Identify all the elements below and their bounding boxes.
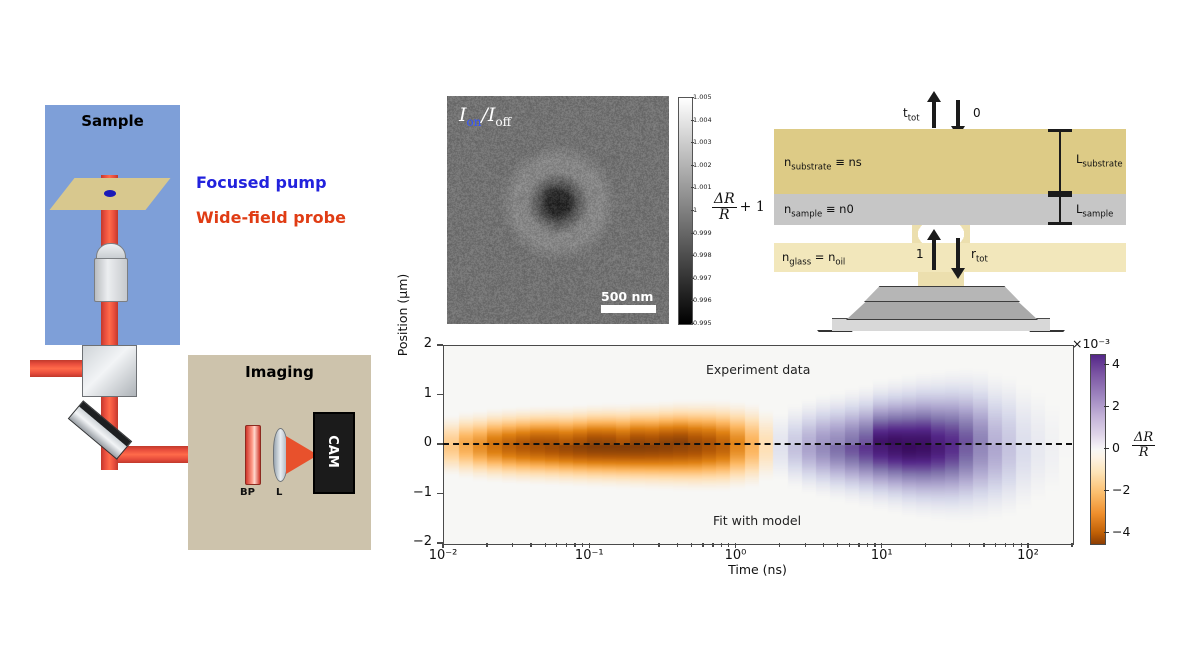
micrograph-colorbar-tick-label: 0.998 xyxy=(693,251,712,259)
optical-setup-diagram: Sample Focused pump Wide-field probe Ima… xyxy=(0,0,400,667)
heatmap-x-minor-tickmark xyxy=(633,543,634,547)
heatmap-x-axis-label: Time (ns) xyxy=(443,562,1072,577)
heatmap-x-tick-label: 10⁻² xyxy=(421,548,465,563)
substrate-layer-label: nsubstrate ≡ ns xyxy=(784,155,862,172)
n-sample-subscript: sample xyxy=(791,209,822,219)
sample-thickness-label: Lsample xyxy=(1076,202,1113,219)
sample-layer-label: nsample ≡ n0 xyxy=(784,202,854,219)
heatmap-x-minor-tickmark xyxy=(486,543,487,547)
substrate-thickness-label: Lsubstrate xyxy=(1076,152,1123,169)
heatmap-x-minor-tickmark xyxy=(805,543,806,547)
colorbar-label-numerator: ΔR xyxy=(712,192,737,208)
heatmap-x-minor-tickmark xyxy=(779,543,780,547)
heatmap-x-minor-tickmark xyxy=(874,543,875,547)
zero-position-dashed-line xyxy=(443,443,1072,445)
micrograph-ratio-label: Ion/Ioff xyxy=(459,104,511,129)
r-tot-arrow-label: rtot xyxy=(971,247,988,264)
heatmap-colorbar-tickmark xyxy=(1104,448,1109,449)
heatmap-y-tickmark xyxy=(437,394,443,395)
heatmap-x-minor-tickmark xyxy=(867,543,868,547)
heatmap-x-minor-tickmark xyxy=(658,543,659,547)
heatmap-x-minor-tickmark xyxy=(712,543,713,547)
L-substrate-subscript: substrate xyxy=(1082,159,1122,169)
micrograph-colorbar-label: ΔR R + 1 xyxy=(712,192,765,222)
heatmap-x-minor-tickmark xyxy=(582,543,583,547)
heatmap-x-minor-tickmark xyxy=(1021,543,1022,547)
heatmap-colorbar-tick-label: 0 xyxy=(1112,440,1120,455)
micrograph-colorbar-tick-label: 1 xyxy=(693,206,697,214)
heatmap-x-minor-tickmark xyxy=(983,543,984,547)
heatmap-x-minor-tickmark xyxy=(566,543,567,547)
objective-lens-body-icon xyxy=(94,258,128,302)
legend-wide-field-probe: Wide-field probe xyxy=(196,208,346,227)
heatmap-x-minor-tickmark xyxy=(721,543,722,547)
heatmap-x-minor-tickmark xyxy=(823,543,824,547)
micrograph-colorbar xyxy=(678,97,693,325)
camera-label-text: CAM xyxy=(324,435,339,468)
heatmap-y-tick-label: −1 xyxy=(408,485,432,500)
zero-arrow-label: 0 xyxy=(973,106,981,120)
heatmap-colorbar-tickmark xyxy=(1104,532,1109,533)
unit-amplitude-arrow-label: 1 xyxy=(916,247,924,261)
scalebar-bar xyxy=(601,305,656,313)
heatmap-x-minor-tickmark xyxy=(677,543,678,547)
n-substrate-value: ≡ ns xyxy=(835,155,862,169)
micrograph-colorbar-tick-label: 0.997 xyxy=(693,274,712,282)
n-sample-value: ≡ n0 xyxy=(826,202,854,216)
L-sample-subscript: sample xyxy=(1082,209,1113,219)
heatmap-y-tick-label: 0 xyxy=(408,435,432,450)
annotation-fit-with-model: Fit with model xyxy=(713,513,801,528)
bandpass-filter-icon xyxy=(245,425,261,485)
incident-top-down-arrow-icon xyxy=(956,100,960,128)
n-oil-subscript: oil xyxy=(835,257,845,267)
heatmap-colorbar-tick-label: 4 xyxy=(1112,356,1120,371)
heatmap-x-minor-tickmark xyxy=(512,543,513,547)
heatmap-x-tick-label: 10² xyxy=(1006,548,1050,563)
scalebar-label: 500 nm xyxy=(601,289,653,304)
t-tot-subscript: tot xyxy=(908,113,920,123)
heatmap-x-tick-label: 10¹ xyxy=(860,548,904,563)
sample-thickness-cap-bottom xyxy=(1048,222,1072,225)
heatmap-y-tick-label: 2 xyxy=(408,336,432,351)
incident-up-arrow-icon xyxy=(932,238,936,270)
heatmap-colorbar-tickmark xyxy=(1104,364,1109,365)
heatmap-colorbar-tick-label: −4 xyxy=(1112,524,1130,539)
substrate-thickness-cap-top xyxy=(1048,129,1072,132)
heatmap-colorbar-tickmark xyxy=(1104,406,1109,407)
heatmap-x-minor-tickmark xyxy=(702,543,703,547)
sample-region-title: Sample xyxy=(45,112,180,130)
heatmap-x-tick-label: 10⁰ xyxy=(713,548,757,563)
transmitted-up-arrow-icon xyxy=(932,100,936,128)
n-substrate-subscript: substrate xyxy=(791,162,831,172)
micrograph-I-on-symbol: I xyxy=(459,104,467,126)
heatmap-x-tick-label: 10⁻¹ xyxy=(567,548,611,563)
heatmap-colorbar-numerator: ΔR xyxy=(1132,431,1155,446)
heatmap-y-tickmark xyxy=(437,344,443,345)
micrograph-on-subscript: on xyxy=(467,115,482,129)
r-tot-subscript: tot xyxy=(976,254,988,264)
heatmap-x-minor-tickmark xyxy=(849,543,850,547)
t-tot-arrow-label: ttot xyxy=(903,106,920,123)
glass-layer-label: nglass = noil xyxy=(782,250,845,267)
legend-focused-pump: Focused pump xyxy=(196,173,327,192)
reflected-down-arrow-icon xyxy=(956,238,960,270)
substrate-thickness-bar xyxy=(1059,129,1061,194)
annotation-experiment-data: Experiment data xyxy=(706,362,810,377)
micrograph-colorbar-tick-label: 1.001 xyxy=(693,183,712,191)
beamsplitter-cube-icon xyxy=(82,345,137,397)
n-glass-subscript: glass xyxy=(789,257,811,267)
heatmap-x-minor-tickmark xyxy=(951,543,952,547)
heatmap-x-minor-tickmark xyxy=(574,543,575,547)
heatmap-y-tick-label: 1 xyxy=(408,386,432,401)
heatmap-x-minor-tickmark xyxy=(691,543,692,547)
heatmap-colorbar-exponent: ×10⁻³ xyxy=(1072,336,1110,351)
heatmap-x-minor-tickmark xyxy=(969,543,970,547)
heatmap-colorbar-tick-label: −2 xyxy=(1112,482,1130,497)
beam-waist-upper-icon xyxy=(912,225,970,243)
heatmap-y-axis-label: Position (μm) xyxy=(395,250,410,380)
heatmap-y-tickmark xyxy=(437,443,443,444)
micrograph-colorbar-tick-label: 0.996 xyxy=(693,296,712,304)
imaging-lens-label: L xyxy=(276,487,282,498)
n-glass-equals: = n xyxy=(815,250,836,264)
heatmap-colorbar-label: ΔR R xyxy=(1132,430,1155,459)
bandpass-filter-label: BP xyxy=(240,487,255,498)
sample-thickness-cap-top xyxy=(1048,194,1072,197)
heatmap-x-minor-tickmark xyxy=(728,543,729,547)
heatmap-x-minor-tickmark xyxy=(858,543,859,547)
delta-r-over-r-fraction: ΔR R xyxy=(712,192,737,222)
heatmap-y-tick-label: −2 xyxy=(408,534,432,549)
heatmap-x-minor-tickmark xyxy=(556,543,557,547)
folding-mirror-icon xyxy=(68,400,132,460)
colorbar-label-denominator: R xyxy=(717,208,732,223)
heatmap-colorbar-denominator: R xyxy=(1137,446,1151,460)
imaging-region-title: Imaging xyxy=(188,363,371,381)
heatmap-colorbar xyxy=(1090,354,1106,545)
objective-front-lens-icon xyxy=(864,286,1020,302)
pump-focus-spot-icon xyxy=(104,190,116,197)
micrograph-colorbar-tick-label: 0.999 xyxy=(693,229,712,237)
heatmap-y-tickmark xyxy=(437,493,443,494)
heatmap-delta-r-over-r-fraction: ΔR R xyxy=(1132,431,1155,459)
heatmap-x-minor-tickmark xyxy=(995,543,996,547)
heatmap-colorbar-tickmark xyxy=(1104,490,1109,491)
heatmap-x-minor-tickmark xyxy=(545,543,546,547)
micrograph-colorbar-tick-label: 0.995 xyxy=(693,319,712,327)
micrograph-colorbar-tick-label: 1.004 xyxy=(693,116,712,124)
camera-label: CAM xyxy=(313,412,351,490)
heatmap-x-minor-tickmark xyxy=(530,543,531,547)
micrograph-off-subscript: off xyxy=(495,115,511,129)
heatmap-x-minor-tickmark xyxy=(837,543,838,547)
micrograph-colorbar-tick-label: 1.005 xyxy=(693,93,712,101)
heatmap-x-minor-tickmark xyxy=(1005,543,1006,547)
sample-thickness-bar xyxy=(1059,194,1061,225)
heatmap-colorbar-tick-label: 2 xyxy=(1112,398,1120,413)
heatmap-x-minor-tickmark xyxy=(1013,543,1014,547)
micrograph-colorbar-tick-label: 1.003 xyxy=(693,138,712,146)
micrograph-colorbar-tick-label: 1.002 xyxy=(693,161,712,169)
heatmap-x-minor-tickmark xyxy=(925,543,926,547)
heatmap-x-minor-tickmark xyxy=(1071,543,1072,547)
